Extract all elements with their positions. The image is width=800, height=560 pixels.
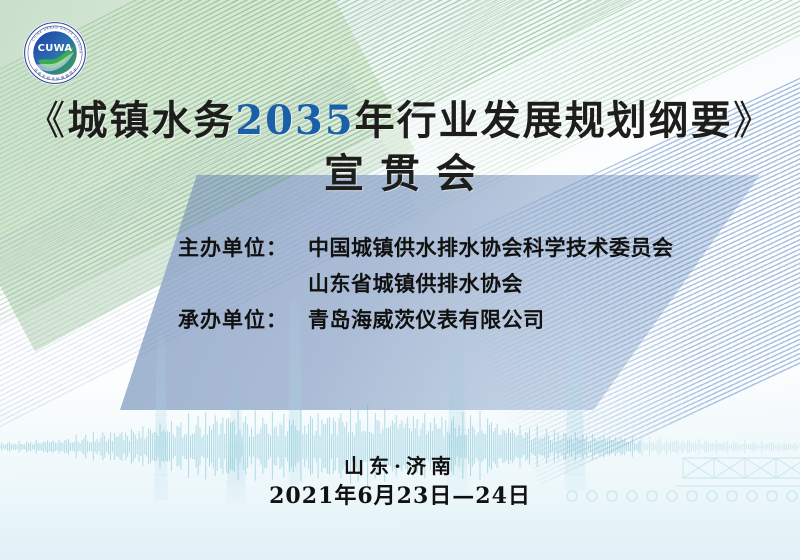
organizer-label: 主办单位： — [178, 232, 296, 262]
title-bracket-open: 《 — [25, 98, 67, 144]
organizer-value: 山东省城镇供排水协会 — [308, 268, 523, 298]
cuwa-logo: CUWA CHINA URBAN WATER ASSOCIATION 中国城镇供… — [22, 20, 88, 86]
poster-title-line-2: 宣贯会 — [0, 146, 800, 202]
event-location: 山东·济南 — [0, 452, 800, 480]
organizer-label: 承办单位： — [178, 304, 296, 334]
organizer-value: 中国城镇供水排水协会科学技术委员会 — [308, 232, 674, 262]
event-date: 2021年6月23日—24日 — [0, 480, 800, 512]
poster-canvas: CUWA CHINA URBAN WATER ASSOCIATION 中国城镇供… — [0, 0, 800, 560]
title-bracket-close: 》 — [733, 98, 775, 144]
organizer-value: 青岛海威茨仪表有限公司 — [308, 304, 545, 334]
poster-title-line-1: 《城镇水务2035年行业发展规划纲要》 — [0, 96, 800, 146]
title-year: 2035 — [235, 97, 354, 144]
organizer-row: 承办单位： 青岛海威茨仪表有限公司 — [0, 304, 800, 340]
poster-title-block: 《城镇水务2035年行业发展规划纲要》 宣贯会 — [0, 96, 800, 202]
organizer-row: 主办单位： 中国城镇供水排水协会科学技术委员会 — [0, 232, 800, 268]
footer-block: 山东·济南 2021年6月23日—24日 — [0, 452, 800, 512]
title-part-2: 年行业发展规划纲要 — [355, 97, 733, 144]
title-part-1: 城镇水务 — [67, 97, 235, 144]
organizer-row: 山东省城镇供排水协会 — [0, 268, 800, 304]
logo-acronym: CUWA — [38, 43, 73, 54]
organizer-block: 主办单位： 中国城镇供水排水协会科学技术委员会 山东省城镇供排水协会 承办单位：… — [0, 232, 800, 340]
